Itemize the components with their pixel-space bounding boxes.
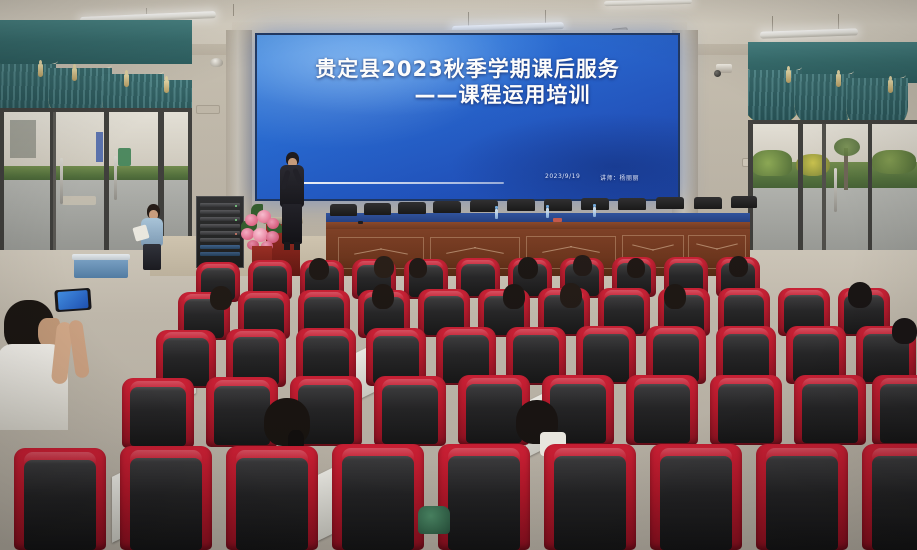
head-table-chair [330, 204, 357, 216]
head-table-chair [507, 199, 535, 211]
head-table-chair [731, 196, 757, 208]
attendee-head [729, 256, 748, 277]
head-table-chair [618, 198, 646, 210]
head-table-chair [470, 200, 498, 212]
attendee-head [372, 284, 394, 309]
auditorium-seat[interactable] [862, 444, 917, 550]
curtain-tassel [124, 74, 129, 87]
curtain-tassel [786, 70, 791, 83]
curtain-tassel [164, 80, 169, 93]
table-document [553, 218, 562, 222]
auditorium-seat[interactable] [626, 375, 698, 445]
auditorium-photo: 贵定县2023秋季学期课后服务 ——课程运用培训 2023/9/19 讲师：杨丽… [0, 0, 917, 550]
curtain-tassel [836, 74, 841, 87]
side-table [74, 258, 128, 278]
table-microphone [358, 221, 363, 224]
attendee-head [560, 283, 582, 308]
water-bottle [593, 207, 596, 217]
flower-arrangement [239, 198, 285, 250]
slide-title: 贵定县2023秋季学期课后服务 ——课程运用培训 [257, 57, 678, 109]
attendee-head [210, 286, 232, 310]
water-bottle [495, 209, 498, 219]
door-handle[interactable] [834, 168, 837, 212]
auditorium-seat[interactable] [794, 375, 866, 445]
head-table-chair [656, 197, 684, 209]
lamp-rod [838, 14, 839, 30]
lamp-rod [468, 12, 469, 26]
auditorium-seat[interactable] [332, 444, 424, 550]
attendee-head [627, 258, 645, 278]
slide-divider-line [289, 182, 504, 184]
slide-title-line2: ——课程运用培训 [257, 82, 678, 109]
lamp-rod [772, 16, 773, 32]
auditorium-seat[interactable] [438, 444, 530, 550]
ceiling-camera [210, 58, 223, 67]
attendee-head [409, 258, 427, 278]
curtain-tassel [888, 80, 893, 93]
attendee-head [374, 256, 394, 278]
door-handle[interactable] [60, 158, 63, 204]
head-table-chair [398, 202, 426, 214]
door-handle[interactable] [114, 156, 117, 200]
auditorium-seat[interactable] [120, 446, 212, 550]
attendee-head [503, 284, 525, 309]
smartphone [54, 288, 91, 312]
person-staff-with-papers [138, 204, 166, 270]
floor-bag [418, 506, 450, 534]
auditorium-seat[interactable] [226, 446, 318, 550]
head-table-chair [364, 203, 391, 215]
curtain-tassel [72, 68, 77, 81]
av-equipment-rack [196, 196, 244, 268]
slide-presenter: 讲师：杨丽丽 [600, 173, 639, 182]
led-presentation-screen: 贵定县2023秋季学期课后服务 ——课程运用培训 2023/9/19 讲师：杨丽… [255, 33, 680, 201]
head-table-chair [694, 197, 722, 209]
head-table-chair [433, 201, 461, 213]
wall-vent [196, 105, 220, 114]
attendee-head [848, 282, 872, 308]
camera-lens-icon [714, 70, 721, 77]
attendee-head [664, 284, 686, 309]
auditorium-seat[interactable] [650, 444, 742, 550]
auditorium-seat[interactable] [14, 448, 106, 550]
attendee-head [892, 318, 917, 344]
auditorium-seat[interactable] [544, 444, 636, 550]
auditorium-seat[interactable] [710, 375, 782, 445]
curtain-tassel [38, 64, 43, 77]
auditorium-seat[interactable] [872, 375, 917, 445]
attendee-head [309, 258, 329, 280]
auditorium-seat[interactable] [122, 378, 194, 448]
side-table-top [72, 254, 130, 260]
water-bottle [546, 208, 549, 218]
auditorium-seat[interactable] [756, 444, 848, 550]
lamp-rod [233, 4, 234, 16]
slide-date: 2023/9/19 [545, 173, 580, 180]
auditorium-seat[interactable] [374, 376, 446, 446]
slide-title-line1: 贵定县2023秋季学期课后服务 [257, 57, 678, 82]
attendee-head [573, 255, 592, 276]
person-recording-phone [2, 300, 112, 430]
attendee-head [518, 257, 538, 279]
